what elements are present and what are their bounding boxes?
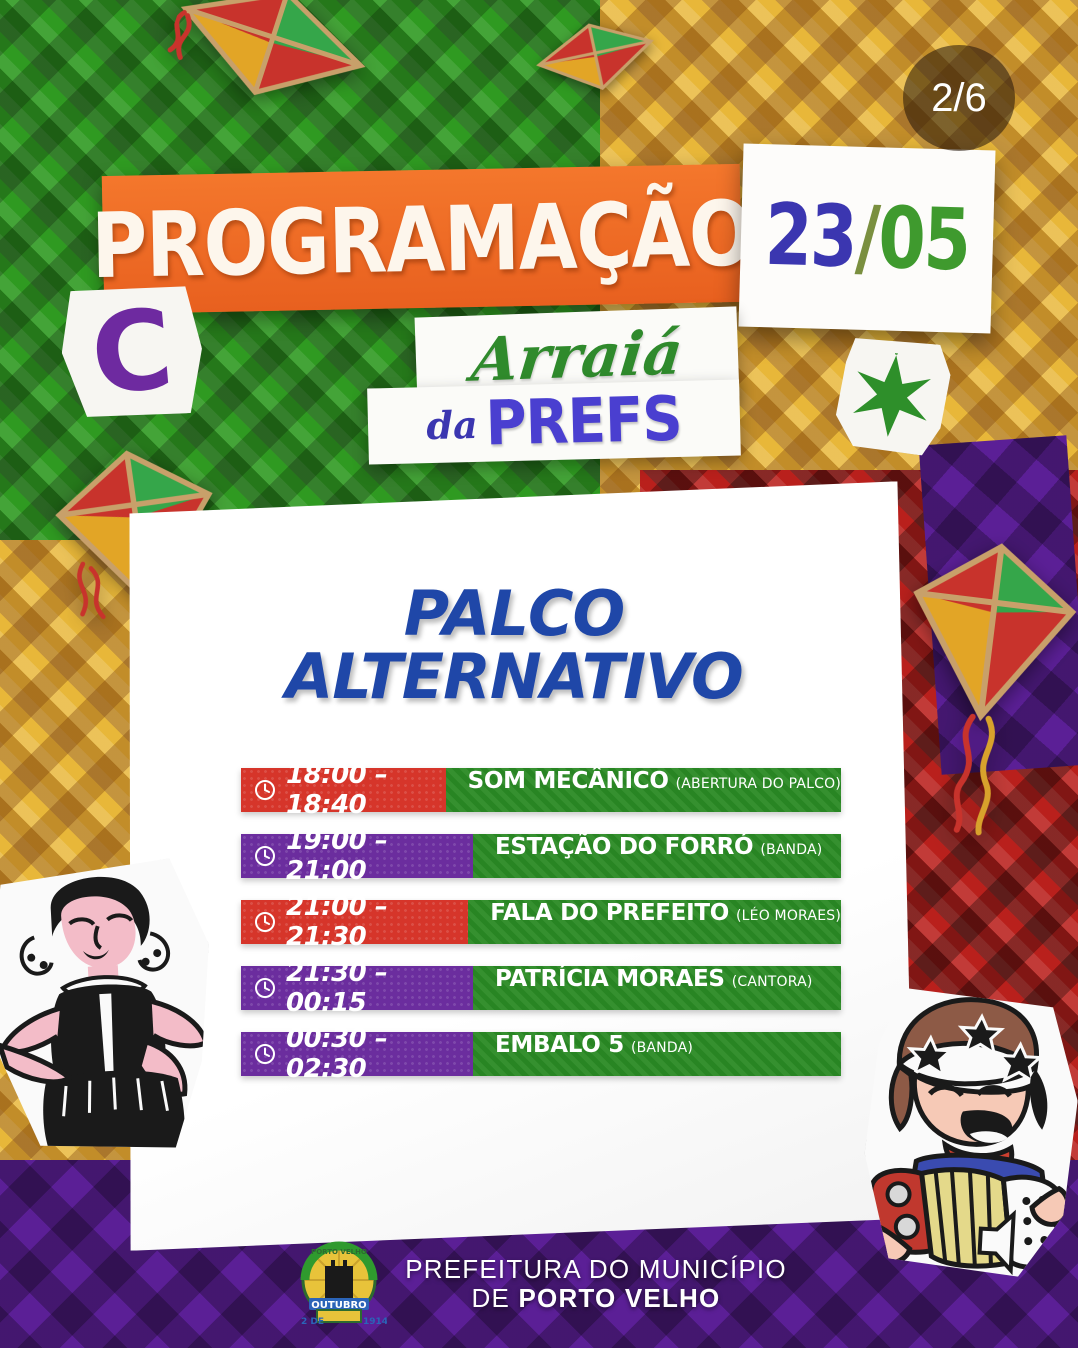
logo-prefs-text: PREFS bbox=[485, 383, 683, 459]
schedule-act-note: (LÉO MORAES) bbox=[736, 908, 841, 924]
footer-brand: PREFEITURA DO MUNICÍPIO DE PORTO VELHO bbox=[405, 1255, 787, 1313]
programacao-banner: PROGRAMAÇÃO bbox=[102, 164, 743, 314]
accordionist-sticker bbox=[859, 981, 1078, 1280]
crest-left-text: 2 DE bbox=[301, 1317, 324, 1327]
schedule-row: 21:00 – 21:30FALA DO PREFEITO(LÉO MORAES… bbox=[241, 900, 841, 944]
page-counter-text: 2/6 bbox=[931, 76, 987, 121]
event-date-text: 23/05 bbox=[764, 186, 971, 290]
schedule-time-text: 18:00 – 18:40 bbox=[286, 760, 446, 820]
star-icon bbox=[845, 349, 940, 444]
schedule-act-name: SOM MECÂNICO bbox=[468, 768, 669, 794]
banner-title-text: PROGRAMAÇÃO bbox=[90, 180, 753, 298]
schedule-time-text: 21:30 – 00:15 bbox=[286, 958, 473, 1018]
schedule-act-note: (CANTORA) bbox=[732, 974, 813, 990]
schedule-act-note: (ABERTURA DO PALCO) bbox=[676, 776, 841, 792]
clock-icon bbox=[254, 1043, 276, 1065]
clock-icon bbox=[254, 779, 276, 801]
schedule-time-text: 19:00 – 21:00 bbox=[286, 826, 473, 886]
crest-top-text: PORTO VELHO bbox=[311, 1248, 367, 1256]
schedule-row: 19:00 – 21:00ESTAÇÃO DO FORRÓ(BANDA) bbox=[241, 834, 841, 878]
schedule-time-text: 00:30 – 02:30 bbox=[286, 1024, 473, 1084]
accordionist-sticker-icon bbox=[859, 981, 1078, 1280]
footer-line-2: DE PORTO VELHO bbox=[405, 1284, 787, 1313]
schedule-act: FALA DO PREFEITO(LÉO MORAES) bbox=[468, 900, 841, 944]
headline-line-2: ALTERNATIVO bbox=[118, 645, 910, 708]
footer-city-name: PORTO VELHO bbox=[518, 1283, 720, 1313]
schedule-row: 18:00 – 18:40SOM MECÂNICO(ABERTURA DO PA… bbox=[241, 768, 841, 812]
schedule-time-chip: 00:30 – 02:30 bbox=[241, 1032, 473, 1076]
crest-right-text: 1914 bbox=[363, 1317, 387, 1327]
schedule-time-text: 21:00 – 21:30 bbox=[286, 892, 468, 952]
schedule-time-chip: 21:30 – 00:15 bbox=[241, 966, 473, 1010]
schedule-list: 18:00 – 18:40SOM MECÂNICO(ABERTURA DO PA… bbox=[241, 768, 841, 1098]
clock-icon bbox=[254, 911, 276, 933]
schedule-row: 00:30 – 02:30EMBALO 5(BANDA) bbox=[241, 1032, 841, 1076]
headline-line-1: PALCO bbox=[118, 582, 910, 645]
poster-root: PROGRAMAÇÃO 23/05 2/6 C Arraiá da PREFS … bbox=[0, 0, 1078, 1348]
date-month: 05 bbox=[877, 189, 970, 290]
c-logo-letter: C bbox=[88, 305, 176, 400]
footer-line2-prefix: DE bbox=[472, 1283, 519, 1313]
prefs-logo-card: da PREFS bbox=[367, 379, 741, 464]
schedule-time-chip: 19:00 – 21:00 bbox=[241, 834, 473, 878]
clock-icon bbox=[254, 977, 276, 999]
schedule-time-chip: 21:00 – 21:30 bbox=[241, 900, 468, 944]
logo-da-text: da bbox=[426, 401, 478, 447]
clock-icon bbox=[254, 845, 276, 867]
page-title: PALCO ALTERNATIVO bbox=[118, 582, 910, 708]
footer: OUTUBRO 2 DE 1914 PORTO VELHO PREFEITURA… bbox=[0, 1236, 1078, 1332]
event-date-card: 23/05 bbox=[738, 144, 995, 334]
schedule-time-chip: 18:00 – 18:40 bbox=[241, 768, 446, 812]
schedule-act-name: FALA DO PREFEITO bbox=[490, 900, 729, 926]
lantern-icon bbox=[880, 531, 1078, 850]
schedule-act-name: EMBALO 5 bbox=[495, 1032, 624, 1058]
schedule-act-name: ESTAÇÃO DO FORRÓ bbox=[495, 834, 753, 860]
schedule-act-note: (BANDA) bbox=[760, 842, 822, 858]
schedule-act: EMBALO 5(BANDA) bbox=[473, 1032, 841, 1076]
page-counter-badge: 2/6 bbox=[903, 45, 1015, 151]
footer-line-1: PREFEITURA DO MUNICÍPIO bbox=[405, 1255, 787, 1284]
date-day: 23 bbox=[764, 186, 857, 287]
schedule-act: PATRÍCIA MORAES(CANTORA) bbox=[473, 966, 841, 1010]
city-crest-icon: OUTUBRO 2 DE 1914 PORTO VELHO bbox=[291, 1236, 387, 1332]
schedule-act: SOM MECÂNICO(ABERTURA DO PALCO) bbox=[446, 768, 841, 812]
schedule-act: ESTAÇÃO DO FORRÓ(BANDA) bbox=[473, 834, 841, 878]
schedule-act-note: (BANDA) bbox=[631, 1040, 693, 1056]
schedule-row: 21:30 – 00:15PATRÍCIA MORAES(CANTORA) bbox=[241, 966, 841, 1010]
schedule-act-name: PATRÍCIA MORAES bbox=[495, 966, 725, 992]
